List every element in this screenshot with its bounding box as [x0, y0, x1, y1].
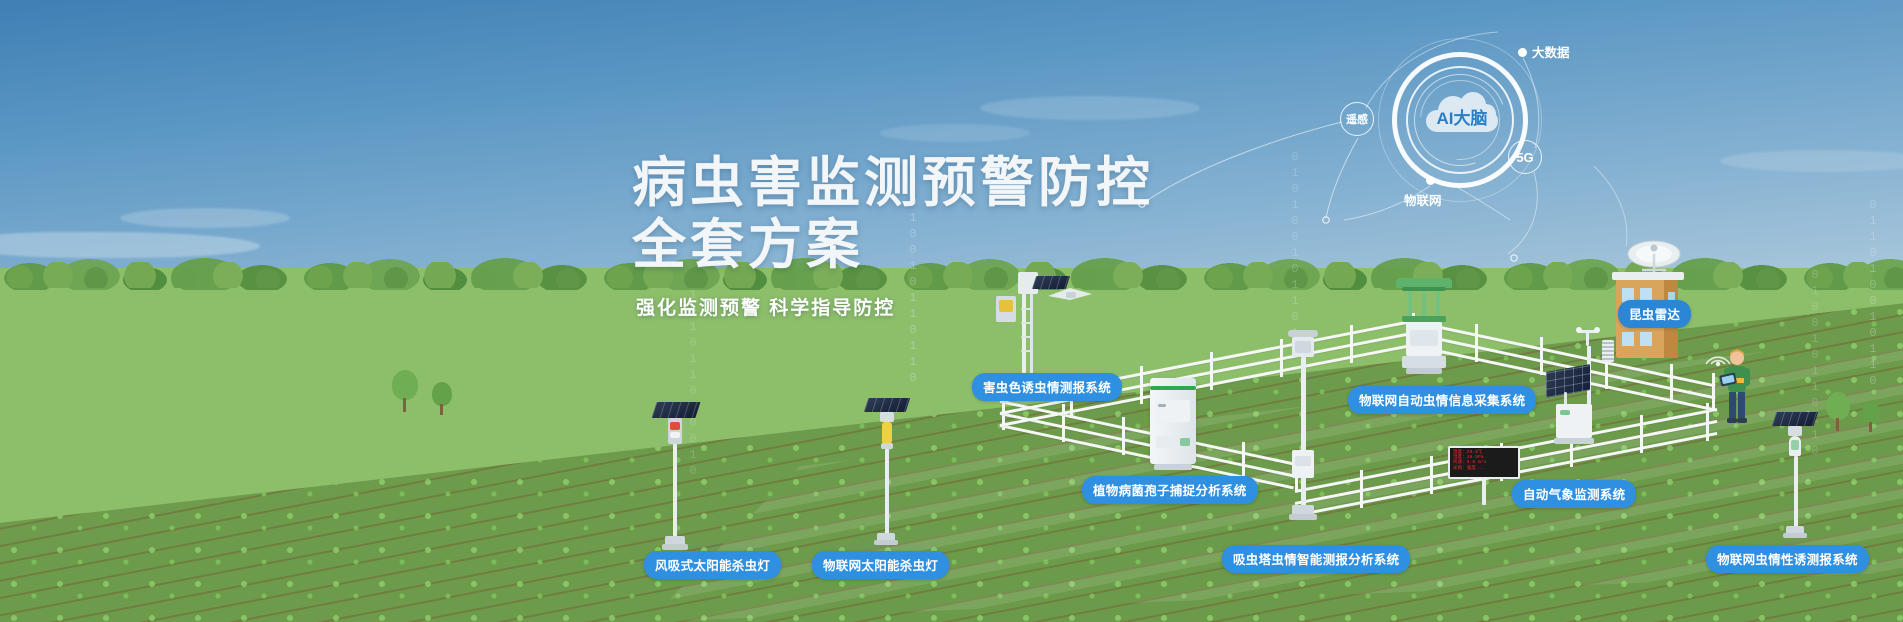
label-insect-radar[interactable]: 昆虫雷达	[1618, 300, 1691, 328]
device-iot-pheromone-forecast	[1768, 412, 1828, 542]
label-weather-station[interactable]: 自动气象监测系统	[1512, 480, 1636, 508]
label-iot-solar-lamp[interactable]: 物联网太阳能杀虫灯	[812, 551, 949, 579]
label-iot-pest-collector[interactable]: 物联网自动虫情信息采集系统	[1348, 386, 1536, 414]
led-line-4: 光照：强度...	[1453, 466, 1515, 471]
label-iot-pheromone-forecast[interactable]: 物联网虫情性诱测报系统	[1706, 545, 1869, 573]
drone-icon	[1044, 282, 1096, 308]
label-suction-tower[interactable]: 吸虫塔虫情智能测报分析系统	[1222, 545, 1410, 573]
device-spore-capture	[1148, 378, 1200, 490]
wifi-signal-icon	[1700, 340, 1740, 372]
binary-decor: 010100101101	[1288, 150, 1302, 342]
device-wind-suction-solar-lamp	[646, 402, 706, 552]
led-display-board: 温度：29.8℃ 湿度：16.5Pa 风速：3.6 m/s 光照：强度...	[1448, 446, 1520, 479]
device-iot-solar-lamp	[862, 398, 918, 548]
label-spore-capture[interactable]: 植物病菌孢子捕捉分析系统	[1082, 476, 1258, 504]
binary-decor: 011010010110	[1866, 198, 1880, 390]
led-display-stand: 温度：29.8℃ 湿度：16.5Pa 风速：3.6 m/s 光照：强度...	[1448, 446, 1528, 506]
device-iot-pest-collector	[1390, 278, 1460, 388]
label-wind-suction-solar-lamp[interactable]: 风吸式太阳能杀虫灯	[644, 551, 781, 579]
page-subtitle: 强化监测预警 科学指导防控	[636, 293, 895, 320]
binary-decor: 010010110110	[906, 195, 920, 387]
page-title: 病虫害监测预警防控 全套方案	[632, 152, 1154, 276]
device-suction-tower	[1278, 330, 1328, 530]
label-pest-color-lure[interactable]: 害虫色诱虫情测报系统	[972, 373, 1122, 401]
banner-canvas: 病虫害监测预警防控 全套方案 强化监测预警 科学指导防控 01001011011…	[0, 0, 1903, 622]
satellite-dish-icon	[1618, 236, 1698, 280]
